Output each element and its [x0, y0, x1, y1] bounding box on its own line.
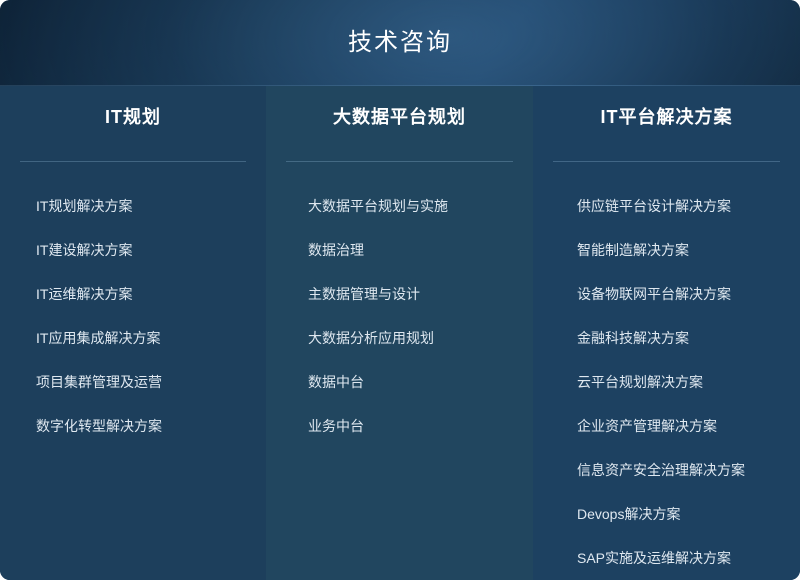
list-item[interactable]: 主数据管理与设计 — [308, 278, 533, 310]
list-item[interactable]: 数据中台 — [308, 366, 533, 398]
list-item[interactable]: IT建设解决方案 — [36, 234, 266, 266]
list-item[interactable]: 云平台规划解决方案 — [577, 366, 800, 398]
list-item[interactable]: Devops解决方案 — [577, 498, 800, 530]
list-item[interactable]: 数字化转型解决方案 — [36, 410, 266, 442]
column-it-platform-solutions: IT平台解决方案 供应链平台设计解决方案 智能制造解决方案 设备物联网平台解决方… — [533, 86, 800, 580]
list-item[interactable]: 数据治理 — [308, 234, 533, 266]
list-item[interactable]: 大数据分析应用规划 — [308, 322, 533, 354]
list-item[interactable]: 设备物联网平台解决方案 — [577, 278, 800, 310]
list-item[interactable]: 供应链平台设计解决方案 — [577, 190, 800, 222]
column-bigdata-platform-planning: 大数据平台规划 大数据平台规划与实施 数据治理 主数据管理与设计 大数据分析应用… — [266, 86, 533, 580]
column-list-3: 供应链平台设计解决方案 智能制造解决方案 设备物联网平台解决方案 金融科技解决方… — [533, 162, 800, 580]
column-title-3: IT平台解决方案 — [533, 104, 800, 130]
column-it-planning: IT规划 IT规划解决方案 IT建设解决方案 IT运维解决方案 IT应用集成解决… — [0, 86, 266, 580]
tech-consulting-panel: 技术咨询 IT规划 IT规划解决方案 IT建设解决方案 IT运维解决方案 IT应… — [0, 0, 800, 580]
list-item[interactable]: 业务中台 — [308, 410, 533, 442]
column-title-2: 大数据平台规划 — [266, 104, 533, 130]
list-item[interactable]: IT运维解决方案 — [36, 278, 266, 310]
list-item[interactable]: 智能制造解决方案 — [577, 234, 800, 266]
column-list-2: 大数据平台规划与实施 数据治理 主数据管理与设计 大数据分析应用规划 数据中台 … — [266, 162, 533, 442]
column-list-1: IT规划解决方案 IT建设解决方案 IT运维解决方案 IT应用集成解决方案 项目… — [0, 162, 266, 442]
list-item[interactable]: 企业资产管理解决方案 — [577, 410, 800, 442]
list-item[interactable]: 项目集群管理及运营 — [36, 366, 266, 398]
list-item[interactable]: IT规划解决方案 — [36, 190, 266, 222]
list-item[interactable]: 金融科技解决方案 — [577, 322, 800, 354]
list-item[interactable]: IT应用集成解决方案 — [36, 322, 266, 354]
page-title: 技术咨询 — [0, 26, 800, 60]
list-item[interactable]: 信息资产安全治理解决方案 — [577, 454, 800, 486]
list-item[interactable]: SAP实施及运维解决方案 — [577, 542, 800, 574]
list-item[interactable]: 大数据平台规划与实施 — [308, 190, 533, 222]
column-title-1: IT规划 — [0, 104, 266, 130]
columns-container: IT规划 IT规划解决方案 IT建设解决方案 IT运维解决方案 IT应用集成解决… — [0, 86, 800, 580]
panel-header: 技术咨询 — [0, 0, 800, 86]
